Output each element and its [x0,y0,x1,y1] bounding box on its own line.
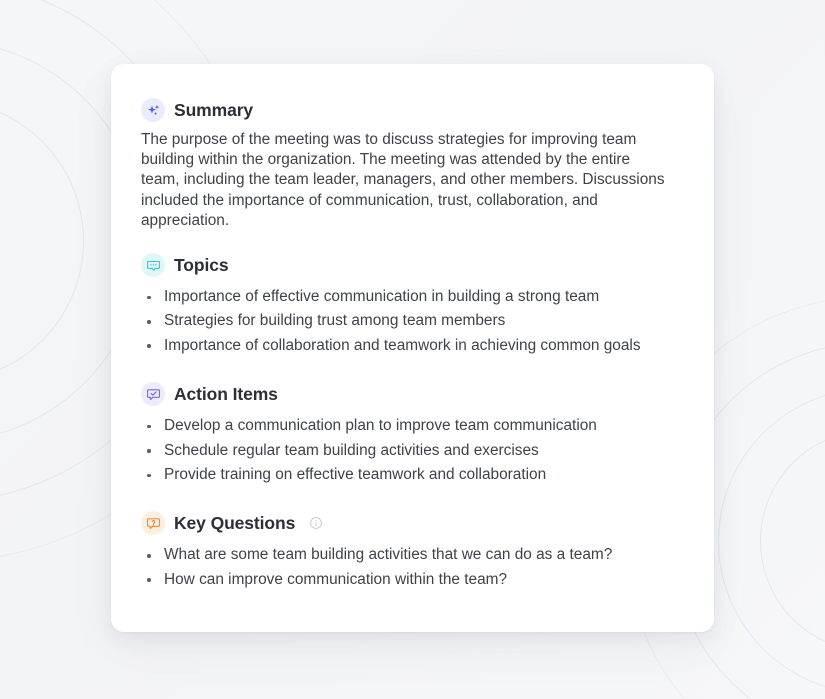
topics-list: Importance of effective communication in… [141,287,684,356]
decorative-ring-right-2 [718,388,825,694]
decorative-ring-left-1 [0,100,84,382]
section-header-key-questions: Key Questions [141,511,684,535]
meeting-notes-card: Summary The purpose of the meeting was t… [111,64,714,632]
list-item: Strategies for building trust among team… [141,311,684,331]
page-background: Summary The purpose of the meeting was t… [0,0,825,699]
section-title-summary: Summary [174,100,253,121]
spacer [141,231,684,253]
sparkle-icon [141,98,165,122]
action-items-list: Develop a communication plan to improve … [141,416,684,485]
section-title-action-items: Action Items [174,384,278,405]
section-header-action-items: Action Items [141,382,684,406]
section-title-topics: Topics [174,255,229,276]
section-title-key-questions: Key Questions [174,513,295,534]
section-header-topics: Topics [141,253,684,277]
decorative-ring-right-1 [760,430,825,652]
list-item: Schedule regular team building activitie… [141,441,684,461]
spacer [141,489,684,511]
list-item: What are some team building activities t… [141,545,684,565]
list-item: Importance of collaboration and teamwork… [141,336,684,356]
summary-paragraph: The purpose of the meeting was to discus… [141,130,666,231]
chat-bubble-dots-icon [141,253,165,277]
section-header-summary: Summary [141,98,684,122]
list-item: Provide training on effective teamwork a… [141,465,684,485]
info-circle-icon[interactable] [309,516,323,530]
key-questions-list: What are some team building activities t… [141,545,684,590]
list-item: Develop a communication plan to improve … [141,416,684,436]
spacer [141,360,684,382]
chat-bubble-check-icon [141,382,165,406]
list-item: Importance of effective communication in… [141,287,684,307]
chat-bubble-question-icon [141,511,165,535]
list-item: How can improve communication within the… [141,570,684,590]
